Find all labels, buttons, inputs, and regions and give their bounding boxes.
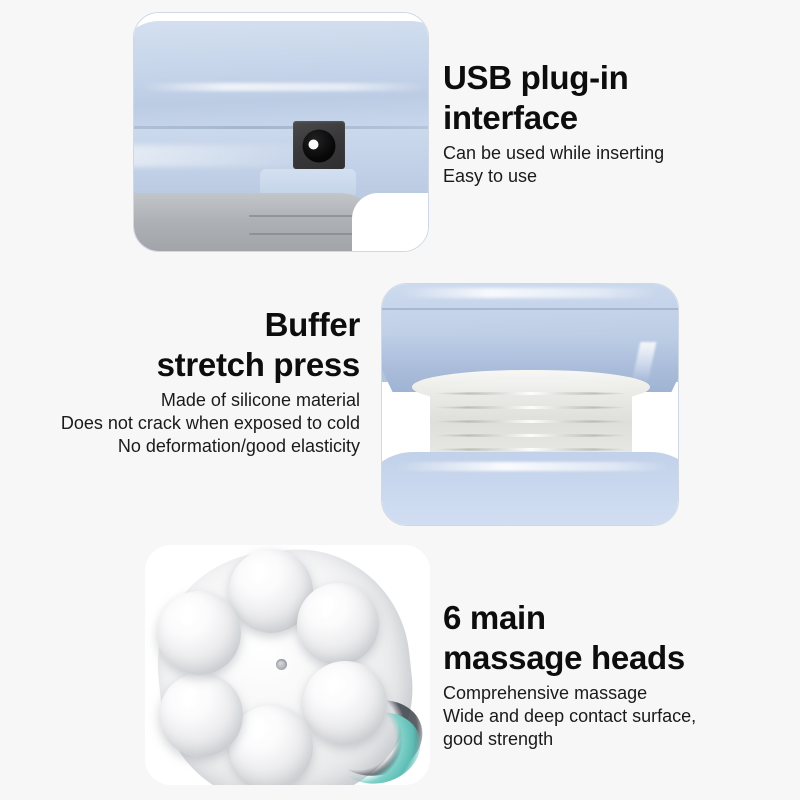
feature-image-buffer-stretch-press bbox=[381, 283, 679, 526]
gloss-highlight bbox=[399, 288, 658, 298]
massage-head-ball bbox=[303, 661, 387, 745]
feature-headline: 6 main massage heads bbox=[443, 598, 763, 678]
feature-text-buffer-stretch-press: Buffer stretch press Made of silicone ma… bbox=[20, 305, 360, 458]
massage-head-ball bbox=[159, 673, 243, 757]
center-vent-hole bbox=[276, 659, 287, 670]
silicone-bellows-illustration bbox=[382, 284, 678, 525]
infographic-page: USB plug-in interface Can be used while … bbox=[0, 0, 800, 800]
image-backdrop-notch bbox=[352, 193, 429, 252]
usb-port-hole bbox=[303, 129, 336, 162]
feature-image-6-main-massage-heads bbox=[145, 545, 430, 785]
usb-port-plate bbox=[293, 121, 345, 169]
blue-lower-body bbox=[381, 452, 679, 526]
gray-silicone-bellows bbox=[133, 193, 368, 252]
feature-text-usb-plug-in-interface: USB plug-in interface Can be used while … bbox=[443, 58, 733, 188]
device-blue-shell-upper bbox=[133, 21, 429, 131]
feature-headline: Buffer stretch press bbox=[20, 305, 360, 385]
feature-headline: USB plug-in interface bbox=[443, 58, 733, 138]
massage-head-ball bbox=[157, 591, 241, 675]
feature-description: Comprehensive massage Wide and deep cont… bbox=[443, 682, 763, 751]
feature-text-6-main-massage-heads: 6 main massage heads Comprehensive massa… bbox=[443, 598, 763, 751]
feature-description: Made of silicone material Does not crack… bbox=[20, 389, 360, 458]
usb-port-illustration bbox=[134, 13, 428, 251]
usb-port-center-pin bbox=[309, 139, 319, 149]
feature-image-usb-plug-in-interface bbox=[133, 12, 429, 252]
massage-heads-illustration bbox=[145, 545, 430, 785]
feature-description: Can be used while inserting Easy to use bbox=[443, 142, 733, 188]
massage-head-ball bbox=[297, 583, 379, 665]
device-seam-line bbox=[381, 308, 679, 310]
